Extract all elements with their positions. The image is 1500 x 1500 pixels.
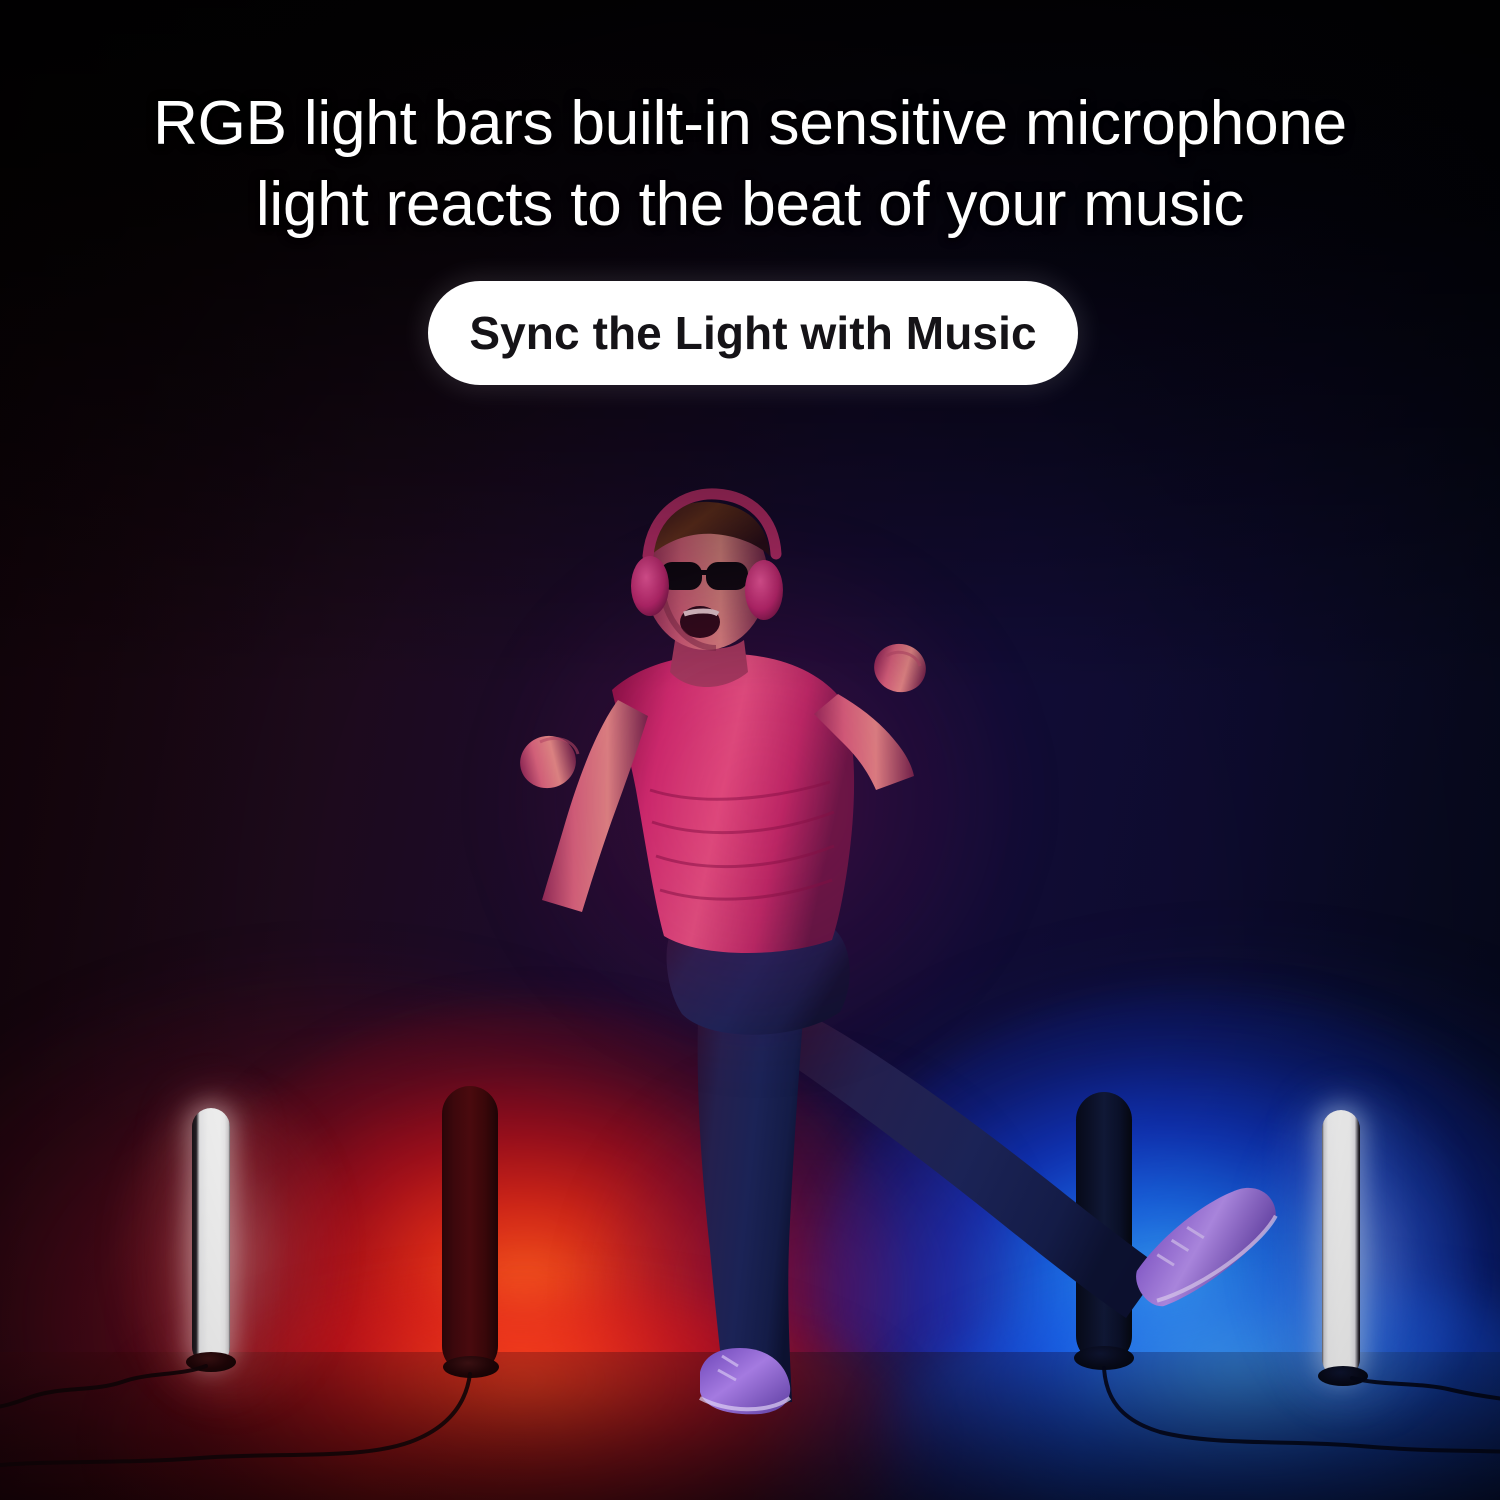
headline-line-2: light reacts to the beat of your music xyxy=(0,165,1500,246)
light-bar-base xyxy=(1074,1346,1134,1370)
product-banner: RGB light bars built-in sensitive microp… xyxy=(0,0,1500,1500)
light-bar-body xyxy=(1076,1092,1132,1364)
light-bar-left-front-facing xyxy=(192,1108,230,1366)
light-bar-body xyxy=(192,1108,230,1366)
light-bar-right-back-facing xyxy=(1076,1092,1132,1364)
floor-shading-overlay xyxy=(0,1352,1500,1500)
headline: RGB light bars built-in sensitive microp… xyxy=(0,84,1500,245)
light-bar-left-back-facing xyxy=(442,1086,498,1374)
light-bar-right-front-facing xyxy=(1322,1110,1360,1378)
headline-line-1: RGB light bars built-in sensitive microp… xyxy=(0,84,1500,165)
light-bar-body xyxy=(442,1086,498,1374)
light-bar-base xyxy=(1318,1366,1368,1386)
light-bar-base xyxy=(443,1356,499,1378)
feature-badge: Sync the Light with Music xyxy=(428,281,1078,385)
light-bar-body xyxy=(1322,1110,1360,1378)
feature-badge-label: Sync the Light with Music xyxy=(469,306,1036,360)
light-bar-base xyxy=(186,1352,236,1372)
